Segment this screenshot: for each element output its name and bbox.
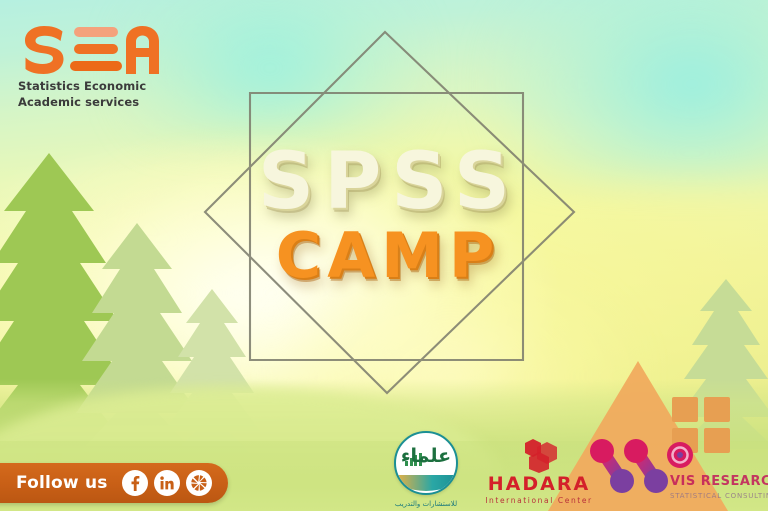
- hadara-name: HADARA: [484, 475, 594, 494]
- social-links: [122, 470, 212, 496]
- sea-caption-line-2: Academic services: [18, 95, 178, 111]
- title-line-camp: CAMP: [0, 225, 768, 287]
- partner-logos: علماء للاستشارات والتدريب HADARA Interna…: [380, 431, 768, 511]
- partner-sea-circle: علماء للاستشارات والتدريب: [388, 431, 462, 509]
- partner-hadara: HADARA International Center: [484, 439, 594, 505]
- follow-us-bar[interactable]: Follow us: [0, 463, 228, 503]
- partner-arabic-caption: للاستشارات والتدريب: [386, 500, 466, 508]
- sea-circular-badge: علماء: [394, 431, 458, 495]
- hadara-subtitle: International Center: [484, 496, 594, 505]
- poster-canvas: SPSS CAMP Statistics Economic Academic s…: [0, 0, 768, 511]
- dribbble-icon[interactable]: [186, 470, 212, 496]
- linkedin-icon[interactable]: [154, 470, 180, 496]
- title-line-spss: SPSS: [0, 145, 768, 219]
- badge-sweep: [394, 475, 458, 491]
- follow-us-label: Follow us: [16, 473, 108, 493]
- partner-arabic-name: علماء: [396, 447, 456, 466]
- facebook-icon[interactable]: [122, 470, 148, 496]
- sea-wordmark-icon: [22, 24, 168, 76]
- hadara-logo-mark: [519, 439, 559, 473]
- sea-brand-caption: Statistics Economic Academic services: [18, 79, 178, 110]
- vis-research-name: VIS RESEARCH: [670, 474, 768, 489]
- sea-brand-logo: Statistics Economic Academic services: [18, 24, 178, 110]
- partner-vis-research: VIS RESEARCH STATISTICAL CONSULTING: [588, 435, 768, 505]
- vis-research-subtitle: STATISTICAL CONSULTING: [670, 492, 768, 500]
- sea-caption-line-1: Statistics Economic: [18, 79, 178, 95]
- poster-title: SPSS CAMP: [0, 145, 768, 287]
